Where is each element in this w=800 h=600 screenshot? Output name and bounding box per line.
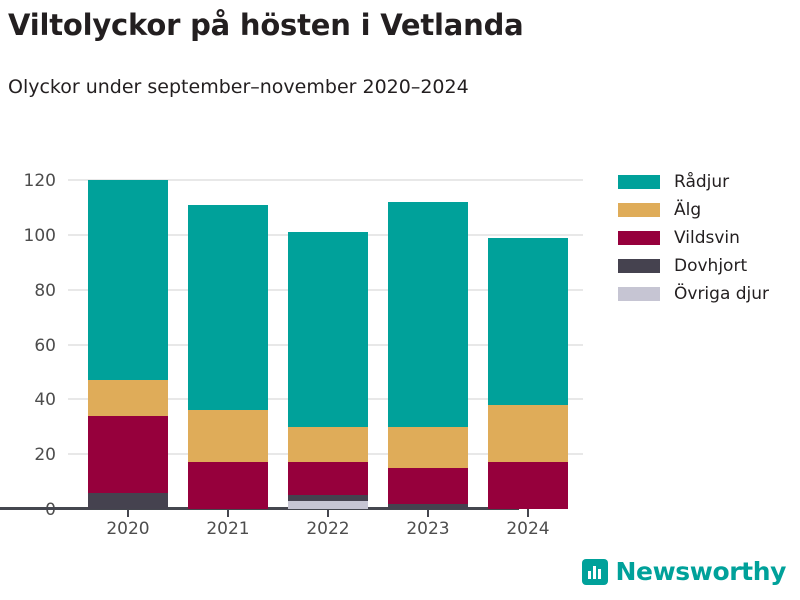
bar-group-2023[interactable] <box>388 0 468 509</box>
legend-item-label: Älg <box>674 200 701 220</box>
bar-segment-2024-rådjur[interactable] <box>488 238 568 405</box>
bar-segment-2021-rådjur[interactable] <box>188 205 268 411</box>
x-axis-tick-label-2021: 2021 <box>178 519 278 539</box>
brand-name: Newsworthy <box>616 557 787 586</box>
bar-segment-2020-dovhjort[interactable] <box>88 493 168 509</box>
bar-segment-2023-vildsvin[interactable] <box>388 468 468 504</box>
y-axis-tick-label: 60 <box>8 336 56 356</box>
bar-segment-2020-rådjur[interactable] <box>88 180 168 380</box>
legend-swatch-icon <box>618 259 660 273</box>
x-axis-tick-mark <box>527 509 529 517</box>
legend-swatch-icon <box>618 231 660 245</box>
bar-group-2024[interactable] <box>488 0 568 509</box>
legend-item-label: Rådjur <box>674 172 729 192</box>
x-axis-tick-label-2024: 2024 <box>478 519 578 539</box>
y-axis-tick-label: 80 <box>8 281 56 301</box>
chart-page: Viltolyckor på hösten i Vetlanda Olyckor… <box>0 0 800 600</box>
x-axis-tick-mark <box>127 509 129 517</box>
y-axis-tick-label: 20 <box>8 445 56 465</box>
bar-group-2021[interactable] <box>188 0 268 509</box>
bar-segment-2021-älg[interactable] <box>188 410 268 462</box>
legend-swatch-icon <box>618 175 660 189</box>
legend-item-rådjur[interactable]: Rådjur <box>618 168 769 196</box>
bar-segment-2024-vildsvin[interactable] <box>488 462 568 509</box>
x-axis-tick-label-2022: 2022 <box>278 519 378 539</box>
legend-swatch-icon <box>618 287 660 301</box>
bar-segment-2022-övriga-djur[interactable] <box>288 501 368 509</box>
bar-group-2020[interactable] <box>88 0 168 509</box>
y-axis-tick-label: 0 <box>8 500 56 520</box>
bar-segment-2022-älg[interactable] <box>288 427 368 463</box>
legend-item-label: Dovhjort <box>674 256 747 276</box>
bar-segment-2020-vildsvin[interactable] <box>88 416 168 493</box>
x-axis-tick-mark <box>327 509 329 517</box>
bar-segment-2020-älg[interactable] <box>88 380 168 416</box>
bar-segment-2022-vildsvin[interactable] <box>288 462 368 495</box>
y-axis-tick-label: 100 <box>8 226 56 246</box>
bar-segment-2022-dovhjort[interactable] <box>288 495 368 500</box>
legend-item-vildsvin[interactable]: Vildsvin <box>618 224 769 252</box>
x-axis-tick-mark <box>427 509 429 517</box>
bar-group-2022[interactable] <box>288 0 368 509</box>
legend-item-älg[interactable]: Älg <box>618 196 769 224</box>
x-axis-tick-mark <box>227 509 229 517</box>
bar-segment-2022-rådjur[interactable] <box>288 232 368 427</box>
y-axis-tick-label: 120 <box>8 171 56 191</box>
legend-item-dovhjort[interactable]: Dovhjort <box>618 252 769 280</box>
legend-item-label: Vildsvin <box>674 228 740 248</box>
y-axis-tick-label: 40 <box>8 390 56 410</box>
bar-segment-2023-rådjur[interactable] <box>388 202 468 427</box>
x-axis-tick-label-2020: 2020 <box>78 519 178 539</box>
bar-segment-2023-älg[interactable] <box>388 427 468 468</box>
legend: RådjurÄlgVildsvinDovhjortÖvriga djur <box>618 168 769 308</box>
bar-chart-logo-icon <box>582 559 608 585</box>
legend-item-label: Övriga djur <box>674 284 769 304</box>
bar-segment-2021-vildsvin[interactable] <box>188 462 268 509</box>
legend-swatch-icon <box>618 203 660 217</box>
x-axis-tick-label-2023: 2023 <box>378 519 478 539</box>
newsworthy-logo: Newsworthy <box>582 557 787 586</box>
bar-segment-2024-älg[interactable] <box>488 405 568 463</box>
legend-item-övriga-djur[interactable]: Övriga djur <box>618 280 769 308</box>
